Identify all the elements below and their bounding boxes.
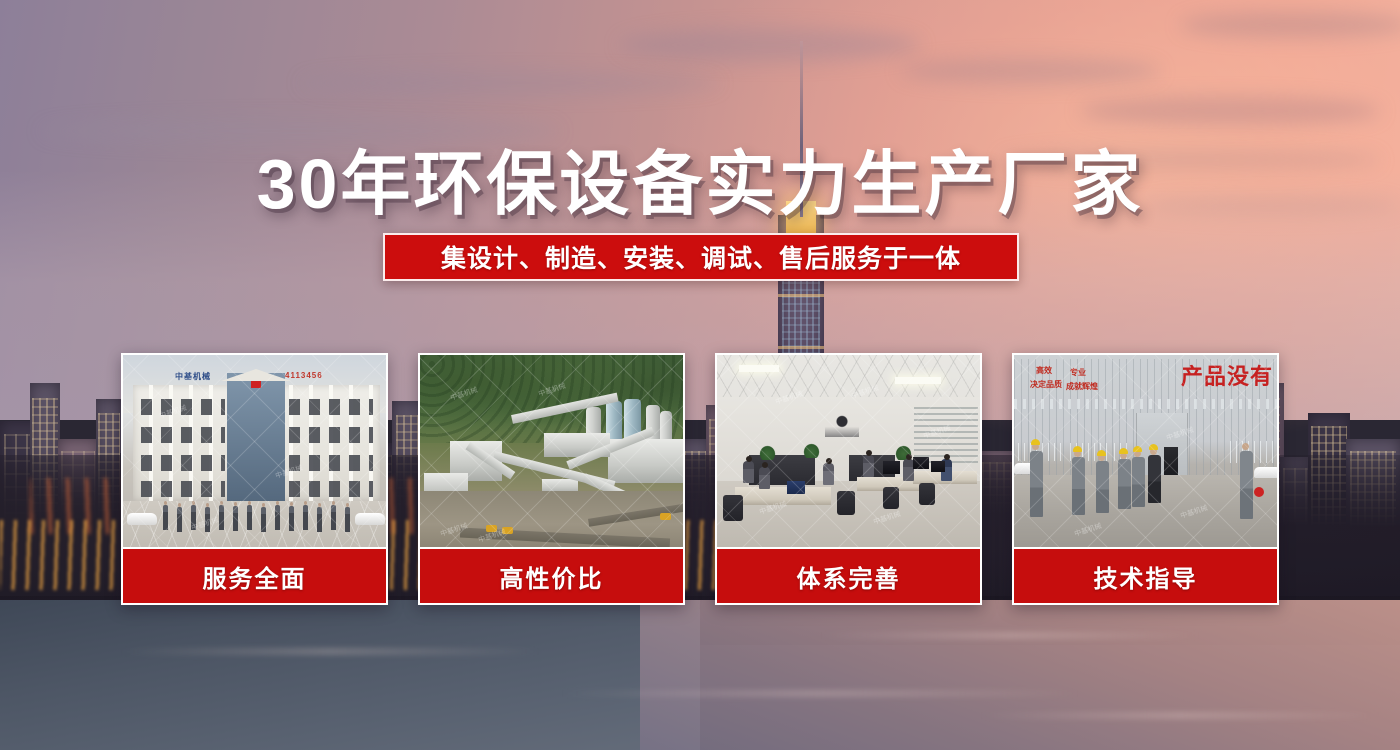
factory-slogan: 决定品质 xyxy=(1030,379,1062,390)
flag-icon xyxy=(251,381,261,388)
card-caption-bar: 技术指导 xyxy=(1014,547,1277,603)
card-photo-office-building: 中基机械 4113456 xyxy=(123,355,386,551)
card-caption-bar: 高性价比 xyxy=(420,547,683,603)
card-caption-bar: 服务全面 xyxy=(123,547,386,603)
card-photo-industrial-plant: 中基机械 中基机械 中基机械 中基机械 xyxy=(420,355,683,551)
card-caption-text: 体系完善 xyxy=(797,559,901,594)
building-sign-text: 中基机械 xyxy=(175,371,211,382)
feature-card-value[interactable]: 中基机械 中基机械 中基机械 中基机械 高性价比 xyxy=(418,353,685,605)
factory-banner-text: 产品没有 xyxy=(1181,359,1273,391)
feature-card-system[interactable]: 中基机械 中基机械 中基机械 中基机械 中基机械 体系完善 xyxy=(715,353,982,605)
wall-poster xyxy=(825,411,859,437)
factory-slogan: 高效 xyxy=(1036,365,1052,376)
factory-slogan: 专业 xyxy=(1070,367,1086,378)
feature-card-guidance[interactable]: 产品没有 高效 决定品质 专业 成就辉煌 xyxy=(1012,353,1279,605)
card-caption-text: 高性价比 xyxy=(500,559,604,594)
cloud xyxy=(620,28,920,62)
card-photo-worker-training: 产品没有 高效 决定品质 专业 成就辉煌 xyxy=(1014,355,1277,551)
feature-card-row: 中基机械 4113456 xyxy=(121,353,1279,605)
river-water-left xyxy=(0,600,700,750)
cloud xyxy=(1080,96,1380,126)
card-caption-text: 技术指导 xyxy=(1094,559,1198,594)
hero-headline: 30年环保设备实力生产厂家 xyxy=(0,128,1400,229)
cloud xyxy=(300,72,720,94)
cloud xyxy=(1180,12,1400,38)
card-caption-bar: 体系完善 xyxy=(717,547,980,603)
feature-card-service[interactable]: 中基机械 4113456 xyxy=(121,353,388,605)
hero-subtitle-text: 集设计、制造、安装、调试、售后服务于一体 xyxy=(441,239,961,275)
hero-subtitle-banner: 集设计、制造、安装、调试、售后服务于一体 xyxy=(383,233,1019,281)
cloud xyxy=(900,58,1160,84)
hero-banner: 30年环保设备实力生产厂家 集设计、制造、安装、调试、售后服务于一体 xyxy=(0,0,1400,750)
card-caption-text: 服务全面 xyxy=(203,559,307,594)
river-water-right xyxy=(640,600,1400,750)
building-phone-text: 4113456 xyxy=(285,371,323,380)
red-helmet-icon xyxy=(1254,487,1264,497)
factory-slogan: 成就辉煌 xyxy=(1066,381,1098,392)
factory-door xyxy=(1164,447,1178,477)
card-photo-office-interior: 中基机械 中基机械 中基机械 中基机械 中基机械 xyxy=(717,355,980,551)
